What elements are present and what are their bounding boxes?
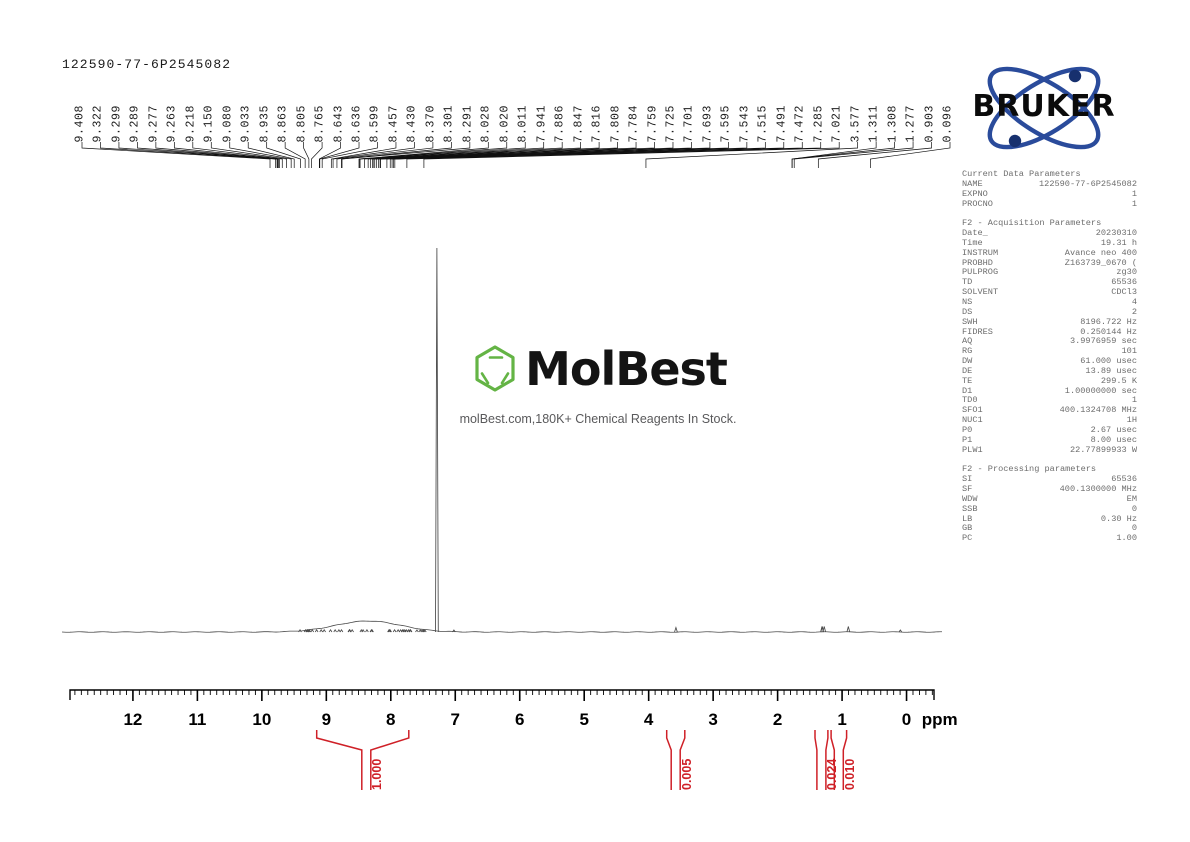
spectrum-peak [320,630,323,632]
param-row: GB0 [962,524,1137,534]
peak-label: 7.725 [665,104,677,142]
axis-tick-label: 1 [837,710,846,730]
param-value: 1.00 [1116,534,1137,544]
peak-label: 8.370 [425,104,437,142]
spectrum-peak [435,248,438,632]
param-row: AQ3.9976959 sec [962,337,1137,347]
spectrum-peak [393,630,396,632]
peak-label: 9.218 [185,104,197,142]
parameter-panel: Current Data ParametersNAME122590-77-6P2… [962,170,1137,544]
peak-label-strip: 9.4089.3229.2999.2899.2779.2639.2189.150… [78,84,958,142]
integral-value: 0.024 [826,759,839,790]
peak-label: 9.299 [111,104,123,142]
peak-label: 9.408 [75,104,87,142]
peak-label: 8.765 [315,104,327,142]
peak-label: 8.863 [278,104,290,142]
peak-label: 7.543 [739,104,751,142]
peak-label: 8.643 [333,104,345,142]
peak-label: 7.472 [795,104,807,142]
peak-label: 0.096 [943,104,955,142]
axis-tick-label: 9 [322,710,331,730]
peak-label: 9.322 [93,104,105,142]
spectrum-peak [416,630,419,632]
spectrum-peak [366,630,369,632]
peak-label: 8.011 [518,104,530,142]
axis-tick-label: 3 [708,710,717,730]
spectrum-peak [823,627,826,633]
peak-label: 8.805 [296,104,308,142]
axis-tick-label: 4 [644,710,653,730]
param-value: 400.1324708 MHz [1060,406,1137,416]
param-row: NAME122590-77-6P2545082 [962,180,1137,190]
spectrum-peak [340,630,343,632]
peak-leader-line [311,142,322,168]
peak-label: 7.784 [629,104,641,142]
peak-leader-line [792,142,894,168]
peak-label: 1.311 [869,104,881,142]
integral-value: 0.005 [681,759,694,790]
axis-tick-label: 12 [123,710,142,730]
axis-ticks [62,688,942,710]
axis-tick-label: 8 [386,710,395,730]
peak-label: 8.430 [407,104,419,142]
peak-label: 8.028 [481,104,493,142]
spectrum-peak [315,630,318,632]
spectrum-peak [311,630,314,632]
spectrum-peak [675,628,678,633]
peak-label: 7.491 [776,104,788,142]
param-key: PC [962,534,972,544]
peak-label: 8.935 [259,104,271,142]
peak-label: 7.886 [555,104,567,142]
param-value: 400.1300000 MHz [1060,485,1137,495]
peak-leader-line [267,142,301,168]
axis-unit-label: ppm [922,710,958,730]
peak-label: 8.291 [462,104,474,142]
peak-label: 7.759 [647,104,659,142]
param-row: SOLVENTCDCl3 [962,288,1137,298]
peak-label: 8.301 [444,104,456,142]
peak-label: 7.693 [702,104,714,142]
integral-curves [62,728,942,813]
peak-label: 9.263 [167,104,179,142]
peak-label: 8.457 [388,104,400,142]
axis-tick-label: 10 [252,710,271,730]
peak-label: 1.277 [906,104,918,142]
peak-label: 8.020 [499,104,511,142]
spectrum-plot [62,200,942,640]
integral-value: 1.000 [371,759,384,790]
peak-leader-line [304,142,309,168]
peak-leader-lines [78,142,958,168]
peak-label: 7.941 [536,104,548,142]
peak-leader-line [870,142,950,168]
peak-label: 1.308 [887,104,899,142]
peak-label: 9.033 [241,104,253,142]
param-row: PLW122.77899933 W [962,446,1137,456]
param-row: PC1.00 [962,534,1137,544]
param-row: WDWEM [962,495,1137,505]
param-key: PLW1 [962,446,983,456]
peak-leader-line [794,142,913,168]
axis-tick-label: 6 [515,710,524,730]
param-row: SF400.1300000 MHz [962,485,1137,495]
axis-tick-label: 0 [902,710,911,730]
baseline-trace [62,621,942,632]
spectrum-peak [847,627,850,633]
peak-label: 7.701 [684,104,696,142]
peak-label: 9.289 [130,104,142,142]
spectrum-peak [362,630,365,632]
param-value: 122590-77-6P2545082 [1039,180,1137,190]
peak-label: 3.577 [850,104,862,142]
spectrum-peak [323,630,326,632]
peak-label: 7.595 [721,104,733,142]
integral-curve [317,730,409,790]
peak-label: 7.816 [592,104,604,142]
axis-tick-label: 2 [773,710,782,730]
spectrum-peak [351,630,354,632]
axis-frame [70,690,934,700]
param-row: PROCNO1 [962,200,1137,210]
peak-label: 7.808 [610,104,622,142]
peak-label: 7.515 [758,104,770,142]
spectrum-trace [62,200,942,640]
peak-label: 7.285 [813,104,825,142]
page-title: 122590-77-6P2545082 [62,57,231,72]
peak-label: 0.903 [924,104,936,142]
peak-label: 7.021 [832,104,844,142]
bruker-logo: BRUKER [958,56,1130,160]
param-value: 1.00000000 sec [1065,387,1137,397]
param-key: PROCNO [962,200,993,210]
axis-tick-label: 11 [188,710,206,730]
peak-label: 8.599 [370,104,382,142]
spectrum-peak [329,630,332,632]
peak-label: 8.636 [352,104,364,142]
integral-area: 1.0000.0050.0240.010 [62,728,942,813]
peak-label: 9.080 [222,104,234,142]
integral-value: 0.010 [844,759,857,790]
param-row: D11.00000000 sec [962,387,1137,397]
axis-tick-label: 7 [451,710,460,730]
bruker-wordmark: BRUKER [958,92,1130,122]
nmr-report-page: 122590-77-6P2545082 9.4089.3229.2999.289… [0,0,1190,842]
spectrum-peak [334,630,337,632]
peak-label: 7.847 [573,104,585,142]
param-row: SFO1400.1324708 MHz [962,406,1137,416]
param-value: 1 [1132,200,1137,210]
peak-label: 9.150 [204,104,216,142]
param-value: 22.77899933 W [1070,446,1137,456]
param-row: LB0.30 Hz [962,515,1137,525]
peak-leader-line [646,142,858,168]
param-row: NS4 [962,298,1137,308]
axis-tick-label: 5 [579,710,588,730]
peak-label: 9.277 [148,104,160,142]
